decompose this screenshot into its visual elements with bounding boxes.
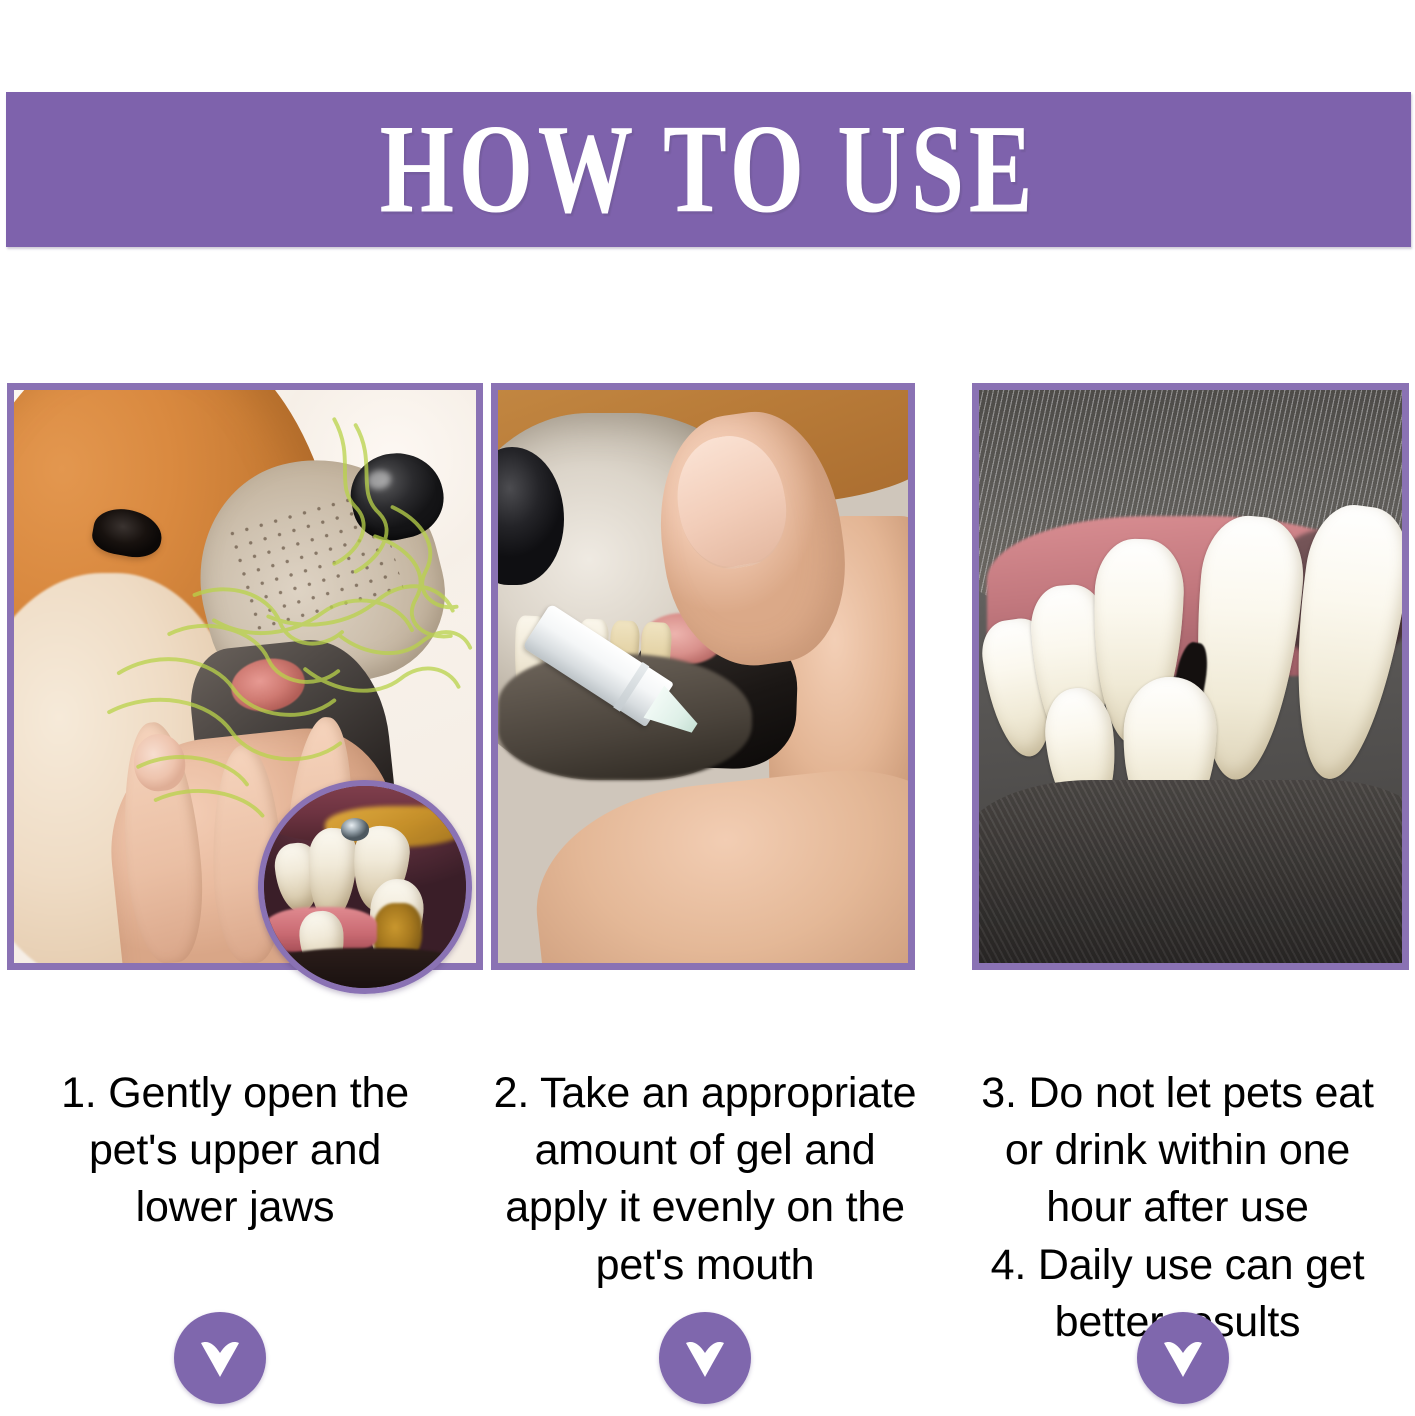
caption-line: pet's upper and [22,1122,448,1179]
caption-line: apply it evenly on the [484,1179,926,1236]
caption-line: 4. Daily use can get [954,1237,1401,1294]
dog-lower-lip [979,780,1402,963]
step-photo-panel-2 [491,383,915,970]
chevron-down-icon [659,1312,751,1404]
step-photo-panel-3 [972,383,1409,970]
tartar-teeth-inset-photo [258,780,472,994]
caption-line: or drink within one [954,1122,1401,1179]
caption-line: 1. Gently open the [22,1065,448,1122]
chevron-down-icon [174,1312,266,1404]
caption-line: 2. Take an appropriate [484,1065,926,1122]
caption-line: 3. Do not let pets eat [954,1065,1401,1122]
chevron-down-icon [1137,1312,1229,1404]
caption-line: amount of gel and [484,1122,926,1179]
caption-line: hour after use [954,1179,1401,1236]
caption-line: lower jaws [22,1179,448,1236]
caption-row: 1. Gently open the pet's upper and lower… [0,1065,1415,1351]
caption-line: pet's mouth [484,1237,926,1294]
page-title: HOW TO USE [380,106,1038,233]
step-photo-3 [979,390,1402,963]
step-photo-2 [498,390,908,963]
inset-highlight-spot [341,818,369,840]
header-banner: HOW TO USE [6,92,1411,247]
step-caption-2: 2. Take an appropriate amount of gel and… [470,1065,940,1351]
step-caption-3: 3. Do not let pets eat or drink within o… [940,1065,1415,1351]
step-caption-1: 1. Gently open the pet's upper and lower… [0,1065,470,1351]
inset-dark-lip [258,948,472,994]
steps-panel-row [0,383,1415,983]
